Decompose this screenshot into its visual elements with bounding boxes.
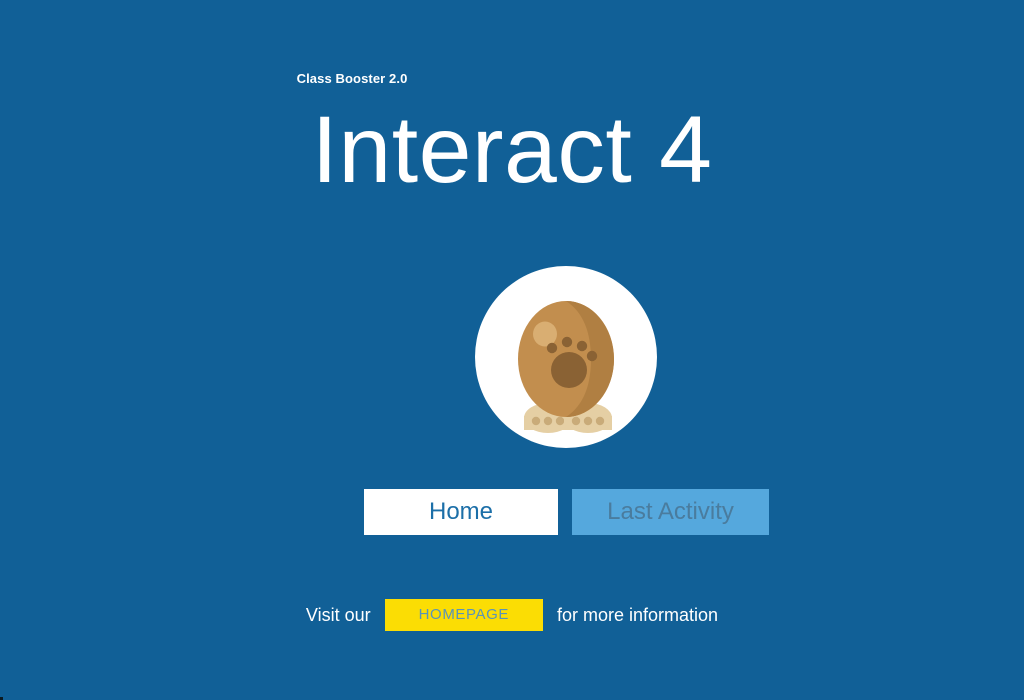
footer-suffix-text: for more information bbox=[543, 605, 718, 626]
last-activity-button[interactable]: Last Activity bbox=[572, 489, 769, 535]
app-subtitle: Class Booster 2.0 bbox=[0, 70, 864, 88]
nav-button-row: Home Last Activity bbox=[364, 489, 769, 535]
logo bbox=[475, 266, 657, 448]
header: Class Booster 2.0 Interact 4 bbox=[0, 70, 1024, 200]
footer: Visit our HOMEPAGE for more information bbox=[0, 599, 1024, 631]
logo-circle bbox=[475, 266, 657, 448]
page-title: Interact 4 bbox=[0, 100, 1024, 200]
egg-mascot-icon bbox=[475, 266, 657, 448]
app-screen: Class Booster 2.0 Interact 4 bbox=[0, 0, 1024, 700]
home-button[interactable]: Home bbox=[364, 489, 558, 535]
footer-prefix-text: Visit our bbox=[306, 605, 385, 626]
homepage-link-button[interactable]: HOMEPAGE bbox=[385, 599, 543, 631]
